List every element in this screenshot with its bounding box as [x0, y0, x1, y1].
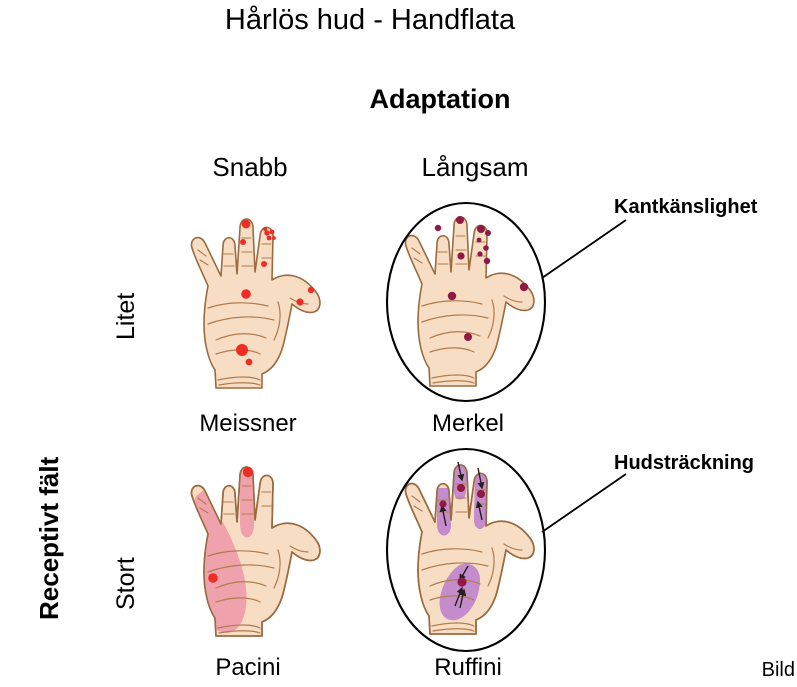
row-header-stort: Stort: [112, 557, 141, 610]
hand-diagram-merkel: [400, 200, 550, 400]
row-header-litet: Litet: [112, 293, 141, 340]
figure-canvas: Hårlös hud - Handflata Adaptation Snabb …: [0, 0, 797, 687]
hand-diagram-meissner: [186, 202, 336, 402]
callout-kantkanslighet: Kantkänslighet: [614, 196, 757, 219]
column-header-langsam: Långsam: [395, 152, 555, 183]
leader-line-kantkanslighet: [540, 218, 630, 280]
image-credit: Bild: [762, 659, 795, 682]
leader-line-hudstrackning: [540, 472, 630, 534]
hand-outline-merkel: [400, 200, 550, 400]
hand-outline-meissner: [186, 202, 336, 402]
hand-label-ruffini: Ruffini: [398, 654, 538, 682]
hand-diagram-ruffini: [400, 448, 550, 648]
hand-diagram-pacini: [186, 450, 336, 650]
column-header-snabb: Snabb: [180, 152, 320, 183]
adaptation-heading: Adaptation: [120, 84, 760, 115]
hand-label-pacini: Pacini: [178, 654, 318, 682]
callout-hudstrackning: Hudsträckning: [614, 452, 754, 475]
hand-outline-ruffini: [400, 448, 550, 648]
page-title: Hårlös hud - Handflata: [0, 4, 740, 37]
receptive-field-axis-label: Receptivt fält: [34, 457, 65, 620]
hand-label-merkel: Merkel: [398, 410, 538, 438]
hand-outline-pacini: [186, 450, 336, 650]
hand-label-meissner: Meissner: [178, 410, 318, 438]
